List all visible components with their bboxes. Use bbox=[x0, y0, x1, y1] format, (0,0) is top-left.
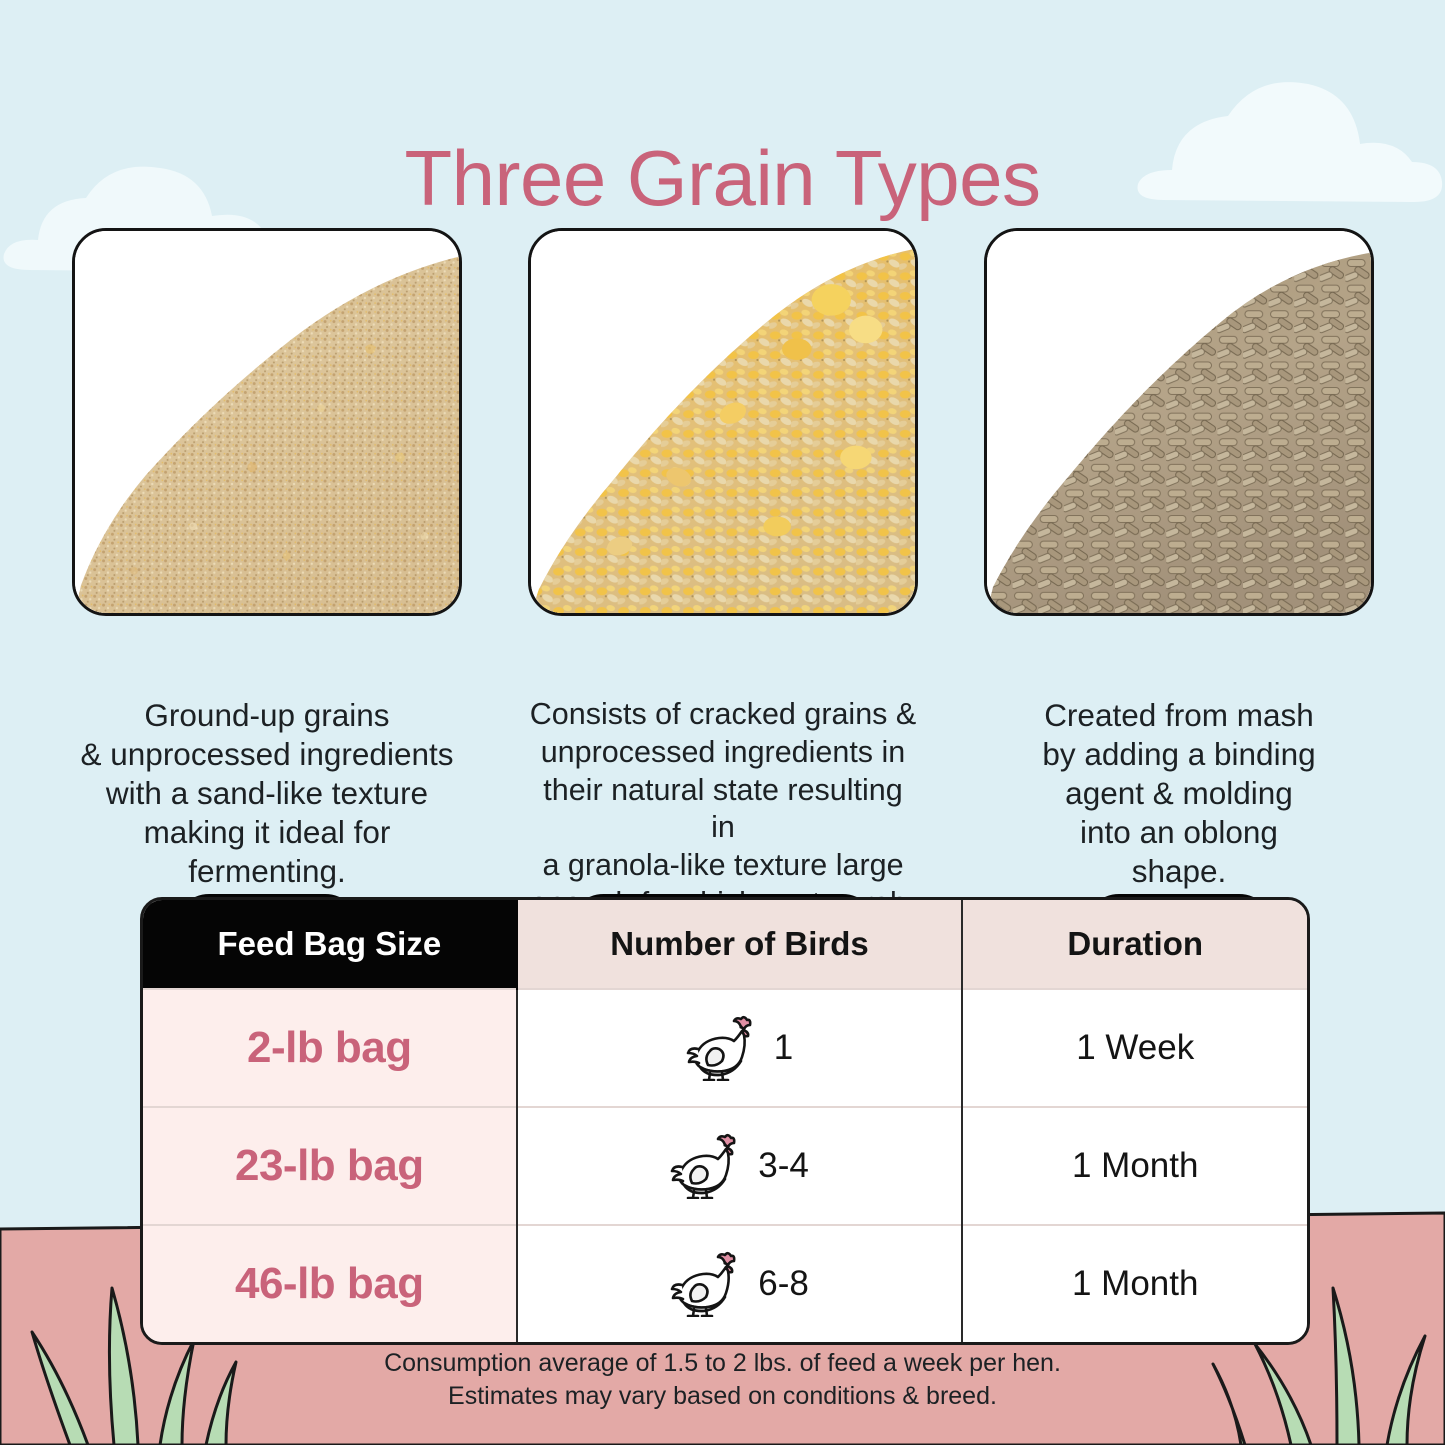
cell-duration: 1 Week bbox=[962, 989, 1307, 1107]
cell-duration: 1 Month bbox=[962, 1107, 1307, 1225]
cell-number-of-birds: 3-4 bbox=[517, 1107, 963, 1225]
table-row: 23-lb bag bbox=[143, 1107, 1307, 1225]
pellet-photo-icon bbox=[987, 231, 1371, 613]
hen-icon bbox=[670, 1133, 744, 1199]
whole-grain-photo bbox=[528, 228, 918, 616]
grain-card-pellet: Pellet Created from mash by adding a bin… bbox=[984, 228, 1374, 923]
table-row: 2-lb bag bbox=[143, 989, 1307, 1107]
grain-description-whole-grain: Consists of cracked grains & unprocessed… bbox=[528, 696, 918, 923]
cell-number-of-birds: 1 bbox=[517, 989, 963, 1107]
cell-feed-bag-size: 46-lb bag bbox=[143, 1225, 517, 1342]
table-header-row: Feed Bag Size Number of Birds Duration bbox=[143, 900, 1307, 989]
column-header-duration: Duration bbox=[962, 900, 1307, 989]
hen-icon bbox=[686, 1015, 760, 1081]
cell-feed-bag-size: 2-lb bag bbox=[143, 989, 517, 1107]
column-header-feed-bag-size: Feed Bag Size bbox=[143, 900, 517, 989]
grain-card-mash: Mash Ground-up grains & unprocessed ingr… bbox=[72, 228, 462, 923]
grain-description-mash: Ground-up grains & unprocessed ingredien… bbox=[72, 696, 462, 891]
footnote-text: Consumption average of 1.5 to 2 lbs. of … bbox=[0, 1347, 1445, 1413]
grain-description-pellet: Created from mash by adding a binding ag… bbox=[984, 696, 1374, 891]
cell-number-of-birds: 6-8 bbox=[517, 1225, 963, 1342]
cell-duration: 1 Month bbox=[962, 1225, 1307, 1342]
grain-type-cards: Mash Ground-up grains & unprocessed ingr… bbox=[72, 228, 1374, 923]
mash-photo bbox=[72, 228, 462, 616]
grain-card-whole-grain: Whole Grain Consists of cracked grains &… bbox=[528, 228, 918, 923]
cell-feed-bag-size: 23-lb bag bbox=[143, 1107, 517, 1225]
birds-count-value: 6-8 bbox=[758, 1264, 809, 1304]
column-header-number-of-birds: Number of Birds bbox=[517, 900, 963, 989]
table-row: 46-lb bag bbox=[143, 1225, 1307, 1342]
hen-icon bbox=[670, 1251, 744, 1317]
mash-grain-photo-icon bbox=[75, 231, 459, 613]
page-title: Three Grain Types bbox=[0, 138, 1445, 220]
feed-bag-table: Feed Bag Size Number of Birds Duration 2… bbox=[140, 897, 1310, 1345]
pellet-photo bbox=[984, 228, 1374, 616]
whole-grain-photo-icon bbox=[531, 231, 915, 613]
birds-count-value: 1 bbox=[774, 1028, 793, 1068]
birds-count-value: 3-4 bbox=[758, 1146, 809, 1186]
infographic-root: Three Grain Types bbox=[0, 0, 1445, 1445]
